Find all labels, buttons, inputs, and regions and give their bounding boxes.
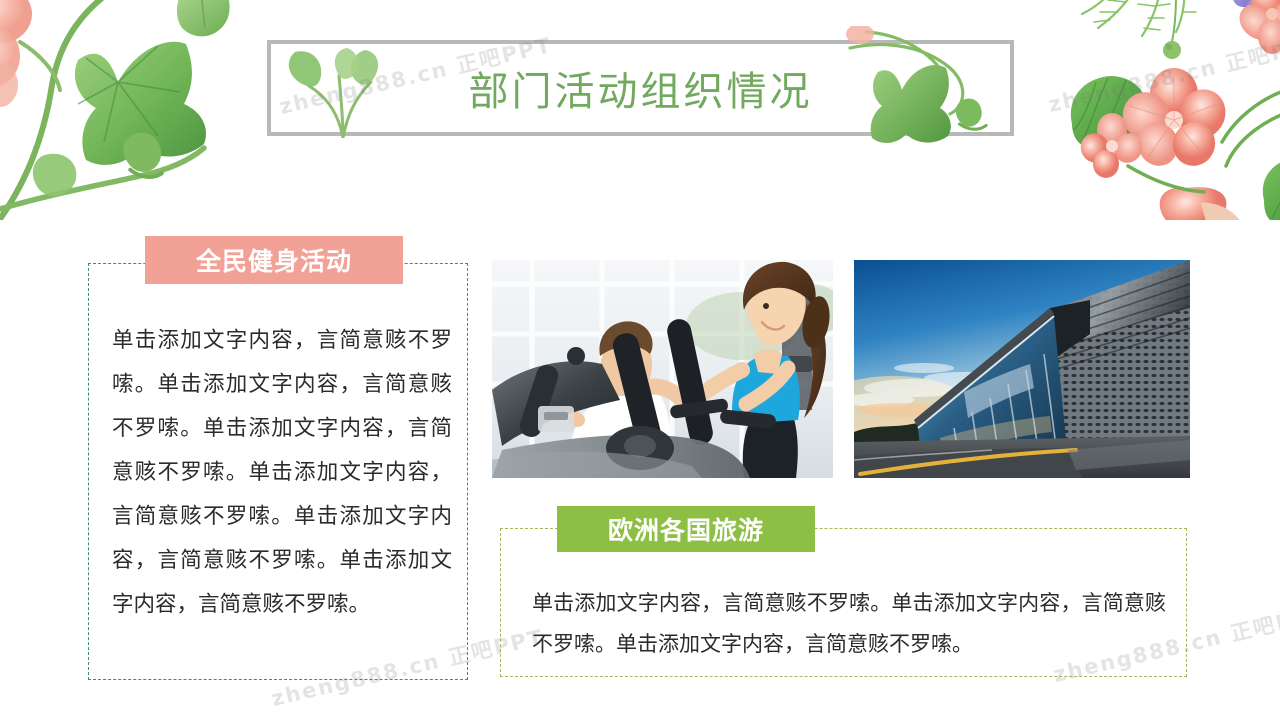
presentation-slide: 部门活动组织情况 全民健身活动 单	[0, 0, 1280, 720]
title-leaf-sprig-left	[277, 46, 427, 138]
slide-title-box: 部门活动组织情况	[267, 40, 1014, 136]
europe-travel-body-text: 单击添加文字内容，言简意赅不罗嗦。单击添加文字内容，言简意赅不罗嗦。单击添加文字…	[532, 583, 1166, 665]
modern-building-photo	[854, 260, 1190, 478]
title-leaf-sprig-right	[846, 26, 1006, 146]
floral-decoration-top-right	[1024, 0, 1280, 220]
fitness-activity-body-text: 单击添加文字内容，言简意赅不罗嗦。单击添加文字内容，言简意赅不罗嗦。单击添加文字…	[112, 318, 452, 626]
fitness-gym-photo	[492, 260, 833, 478]
page-title: 部门活动组织情况	[469, 59, 813, 117]
watermark: zheng888.cn 正吧PPT	[1045, 27, 1280, 119]
europe-travel-label-text: 欧洲各国旅游	[608, 511, 764, 547]
fitness-activity-label: 全民健身活动	[145, 236, 403, 284]
floral-decoration-top-left	[0, 0, 290, 220]
europe-travel-label: 欧洲各国旅游	[557, 506, 815, 552]
fitness-activity-label-text: 全民健身活动	[196, 242, 352, 278]
